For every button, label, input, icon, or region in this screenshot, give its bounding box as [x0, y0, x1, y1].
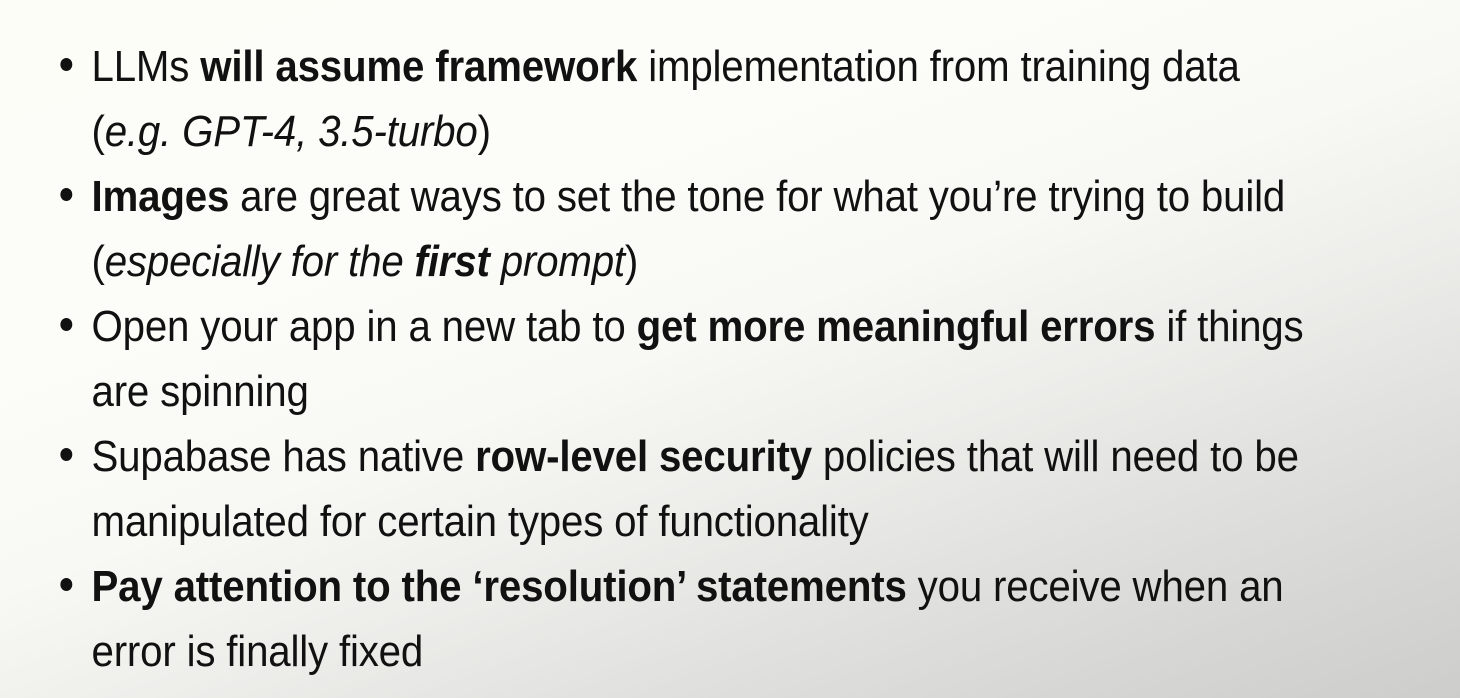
list-item: Images are great ways to set the tone fo… — [0, 164, 1336, 294]
bullet-text: Images are great ways to set the tone fo… — [92, 164, 1320, 294]
list-item: LLMs will assume framework implementatio… — [0, 34, 1336, 164]
bullet-point-icon — [60, 448, 72, 461]
bullet-point-icon — [60, 318, 72, 331]
slide-canvas: LLMs will assume framework implementatio… — [0, 0, 1460, 698]
bullet-list: LLMs will assume framework implementatio… — [0, 34, 1460, 684]
bullet-text: Pay attention to the ‘resolution’ statem… — [92, 554, 1320, 684]
bullet-point-icon — [60, 578, 72, 591]
list-item: Pay attention to the ‘resolution’ statem… — [0, 554, 1336, 684]
bullet-text: Supabase has native row-level security p… — [92, 424, 1320, 554]
list-item: Open your app in a new tab to get more m… — [0, 294, 1336, 424]
bullet-text: Open your app in a new tab to get more m… — [92, 294, 1320, 424]
bullet-point-icon — [60, 188, 72, 201]
list-item: Supabase has native row-level security p… — [0, 424, 1336, 554]
bullet-text: LLMs will assume framework implementatio… — [92, 34, 1320, 164]
bullet-point-icon — [60, 58, 72, 71]
